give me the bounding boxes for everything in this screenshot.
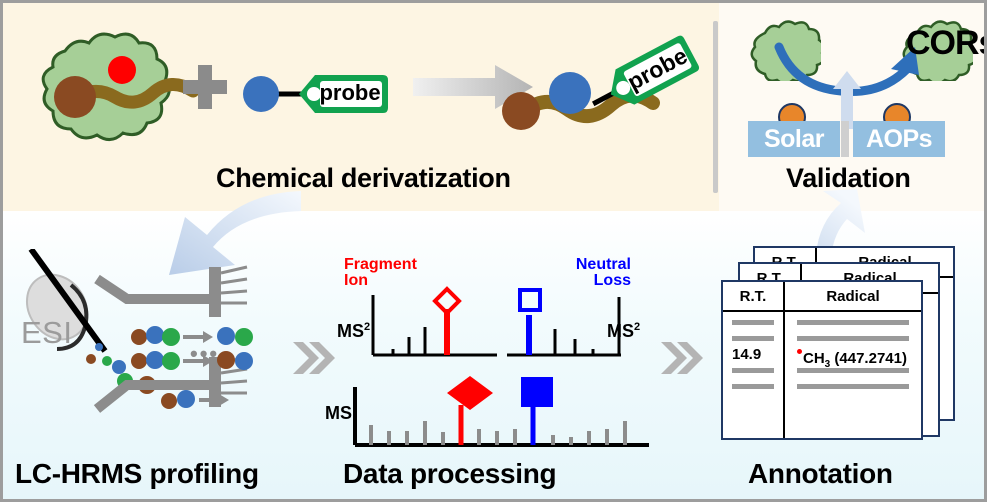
esi-label: ESI (21, 315, 72, 351)
radical-value: CH3 (447.2741) (797, 352, 909, 357)
col-rt-header: R.T. (723, 282, 785, 310)
rt-placeholder-row-4 (732, 384, 774, 389)
card-body-front: 14.9 CH3 (447.2741) (723, 312, 921, 438)
validation-bar-gap (841, 121, 849, 157)
card-header-front: R.T. Radical (723, 282, 921, 312)
double-chevron-right-icon-1 (291, 336, 335, 385)
top-section-divider (713, 21, 718, 193)
probe-tag-icon: probe (243, 63, 388, 125)
plus-icon (183, 65, 227, 109)
aops-label: AOPs (853, 123, 945, 155)
col-radical-header: Radical (785, 282, 921, 310)
radical-mass: (447.2741) (834, 350, 907, 367)
double-chevron-right-icon-2 (659, 336, 703, 385)
rt-placeholder-row-2 (732, 336, 774, 341)
radical-placeholder-row-4 (797, 384, 909, 389)
neutral-loss-marker-filled (521, 377, 553, 412)
graphical-abstract: probe probe Ch (0, 0, 987, 502)
fragment-ion-marker-filled (447, 376, 493, 415)
radical-placeholder-row-1 (797, 320, 909, 325)
derivatized-product-icon: probe (501, 13, 701, 158)
ms2-fragment-ion-spectrum (369, 283, 499, 368)
radical-formula: CH (803, 350, 825, 367)
radical-placeholder-row-2 (797, 336, 909, 341)
ellipsis-icon: ••• (190, 341, 219, 367)
rt-value: 14.9 (732, 352, 774, 357)
caption-annotation: Annotation (748, 458, 893, 490)
probe-label-reactant: probe (319, 79, 381, 104)
rt-placeholder-row-1 (732, 320, 774, 325)
radical-column: CH3 (447.2741) (785, 312, 921, 438)
radical-placeholder-row-3 (797, 368, 909, 373)
ms2-neutral-loss-spectrum (503, 281, 633, 368)
fragment-ion-line1: Fragment (344, 256, 417, 273)
caption-data-processing: Data processing (343, 458, 556, 490)
cloud-molecule-icon (25, 29, 205, 149)
radical-dot-icon (797, 349, 802, 354)
rt-placeholder-row-3 (732, 368, 774, 373)
ms-axis-label: MS (325, 403, 352, 424)
fragment-ion-line2: Ion (344, 272, 368, 289)
cors-label: CORs (906, 24, 987, 63)
ms-full-scan-spectrum (351, 381, 651, 458)
radical-subscript: 3 (825, 359, 831, 370)
ms2-left-axis-label: MS2 (337, 321, 370, 342)
solar-label: Solar (748, 123, 840, 155)
caption-lc-hrms: LC-HRMS profiling (15, 458, 259, 490)
annotation-card-front[interactable]: R.T. Radical 14.9 CH3 (447.2741) (721, 280, 923, 440)
rt-column: 14.9 (723, 312, 785, 438)
neutral-loss-line1: Neutral (576, 256, 631, 273)
